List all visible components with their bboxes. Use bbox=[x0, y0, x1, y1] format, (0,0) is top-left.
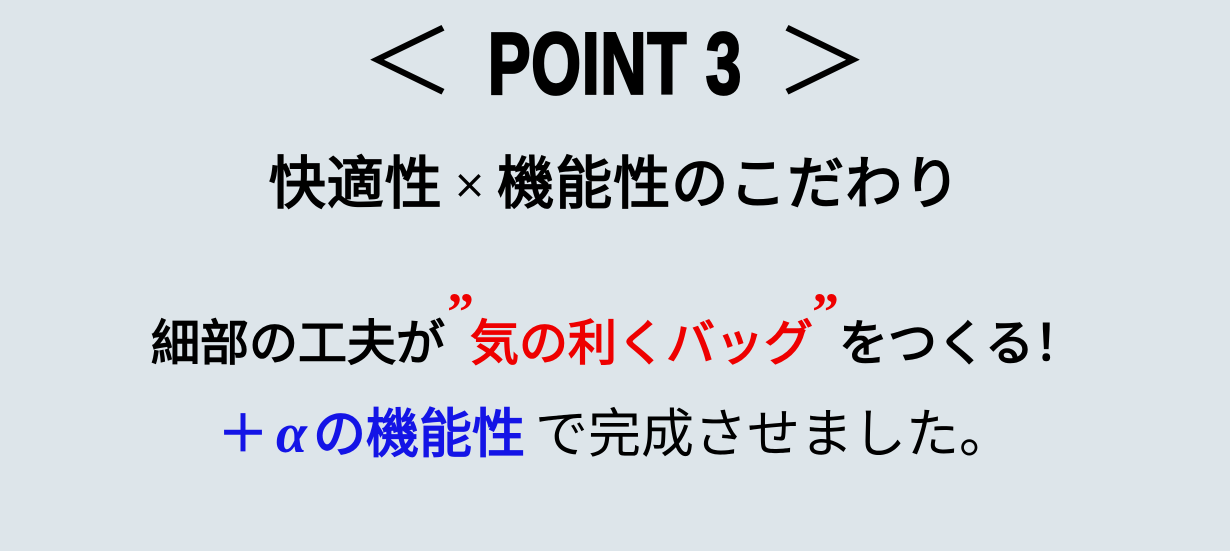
slide-canvas: ＜POINT 3＞ 快適性×機能性のこだわり 細部の工夫が”気の利くバッグ”をつ… bbox=[0, 0, 1230, 551]
plus-icon: ＋ bbox=[218, 405, 268, 463]
body-line-two-highlight: の機能性 bbox=[313, 405, 525, 464]
subtitle-left-term: 快適性 bbox=[269, 152, 443, 216]
quote-open-icon: ” bbox=[447, 283, 472, 342]
angle-bracket-close-icon: ＞ bbox=[774, 18, 869, 108]
page-title-label: POINT 3 bbox=[488, 22, 742, 109]
body-line-one-highlight: 気の利くバッグ bbox=[470, 317, 813, 371]
subtitle-right-term: 機能性のこだわり bbox=[497, 152, 961, 216]
body-line-one-prefix: 細部の工夫が bbox=[151, 317, 445, 371]
body-line-two-suffix: で完成させました。 bbox=[525, 405, 1012, 464]
page-title: ＜POINT 3＞ bbox=[0, 24, 1230, 106]
body-line-two: ＋αの機能性で完成させました。 bbox=[0, 404, 1230, 466]
alpha-symbol: α bbox=[268, 403, 313, 465]
body-line-one: 細部の工夫が”気の利くバッグ”をつくる！ bbox=[0, 313, 1230, 372]
subtitle: 快適性×機能性のこだわり bbox=[0, 152, 1230, 218]
angle-bracket-open-icon: ＜ bbox=[361, 18, 456, 108]
multiply-icon: × bbox=[443, 162, 498, 208]
exclamation-mark: ！ bbox=[1034, 317, 1079, 371]
quote-close-icon: ” bbox=[812, 283, 837, 342]
body-line-one-suffix: をつくる bbox=[839, 317, 1034, 371]
